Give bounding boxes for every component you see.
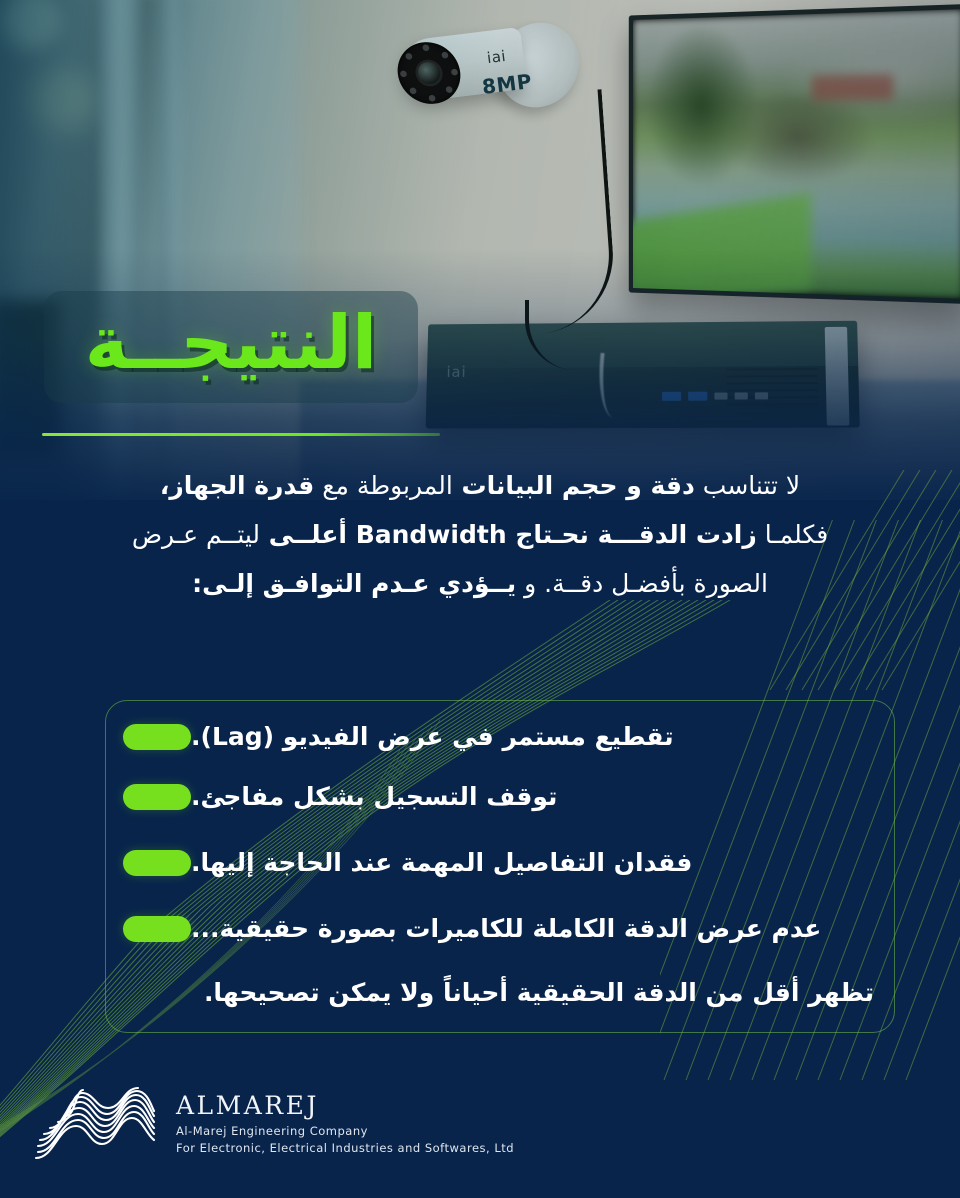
intro-text-run: زادت الدقـــة نحـتاج — [507, 520, 757, 549]
list-item: توقف التسجيل بشكل مفاجئ. — [105, 782, 960, 811]
intro-text-run: فكلمـا — [757, 520, 828, 549]
bullet-marker-icon — [123, 784, 191, 810]
intro-text-run: Bandwidth — [356, 520, 507, 549]
bullet-text: فقدان التفاصيل المهمة عند الحاجة إليها. — [191, 848, 692, 877]
intro-text-run: ليتــم عـرض — [132, 520, 260, 549]
intro-text-run: لا تتناسب — [695, 471, 800, 500]
intro-line-3: الصورة بأفضـل دقــة. و يــؤدي عـدم التوا… — [20, 560, 940, 609]
hero-photo: iai iai 8MP — [0, 0, 960, 500]
list-item: تقطيع مستمر في عرض الفيديو (Lag). — [105, 722, 960, 751]
bullet-list: تقطيع مستمر في عرض الفيديو (Lag). توقف ا… — [105, 700, 960, 1033]
bullet-text: عدم عرض الدقة الكاملة للكاميرات بصورة حق… — [191, 914, 821, 943]
bullet-text: تقطيع مستمر في عرض الفيديو (Lag). — [191, 722, 674, 751]
footer-text-block: ALMAREJ Al-Marej Engineering Company For… — [176, 1091, 514, 1156]
footer-tagline-2: For Electronic, Electrical Industries an… — [176, 1140, 514, 1157]
list-item: عدم عرض الدقة الكاملة للكاميرات بصورة حق… — [105, 914, 960, 943]
intro-text-run: المربوطة مع — [314, 471, 453, 500]
footer-brand-name: ALMAREJ — [176, 1091, 514, 1120]
intro-paragraph: لا تتناسب دقة و حجم البيانات المربوطة مع… — [20, 462, 940, 608]
bullet-continuation-text: تظهر أقل من الدقة الحقيقية أحياناً ولا ي… — [204, 978, 874, 1007]
intro-line-2: فكلمـا زادت الدقـــة نحـتاج Bandwidth أع… — [20, 511, 940, 560]
wave-mountain-logo-icon — [34, 1086, 158, 1162]
bullet-marker-icon — [123, 850, 191, 876]
bullet-marker-icon — [123, 916, 191, 942]
intro-text-run: أعلــى — [260, 520, 356, 549]
intro-text-run: الصورة بأفضـل دقــة. و — [516, 569, 768, 598]
page-title: النتيجــة — [44, 282, 418, 404]
title-underline — [42, 433, 440, 436]
footer-brand: ALMAREJ Al-Marej Engineering Company For… — [34, 1086, 514, 1162]
bullet-text: توقف التسجيل بشكل مفاجئ. — [191, 782, 557, 811]
intro-line-1: لا تتناسب دقة و حجم البيانات المربوطة مع… — [20, 462, 940, 511]
footer-tagline-1: Al-Marej Engineering Company — [176, 1123, 514, 1140]
intro-text-run: قدرة الجهاز، — [160, 471, 314, 500]
intro-text-run: دقة و حجم البيانات — [453, 471, 695, 500]
bullet-marker-icon — [123, 724, 191, 750]
intro-text-run: يــؤدي عـدم التوافـق إلـى: — [192, 569, 516, 598]
list-item: فقدان التفاصيل المهمة عند الحاجة إليها. — [105, 848, 960, 877]
poster-canvas: iai iai 8MP — [0, 0, 960, 1198]
